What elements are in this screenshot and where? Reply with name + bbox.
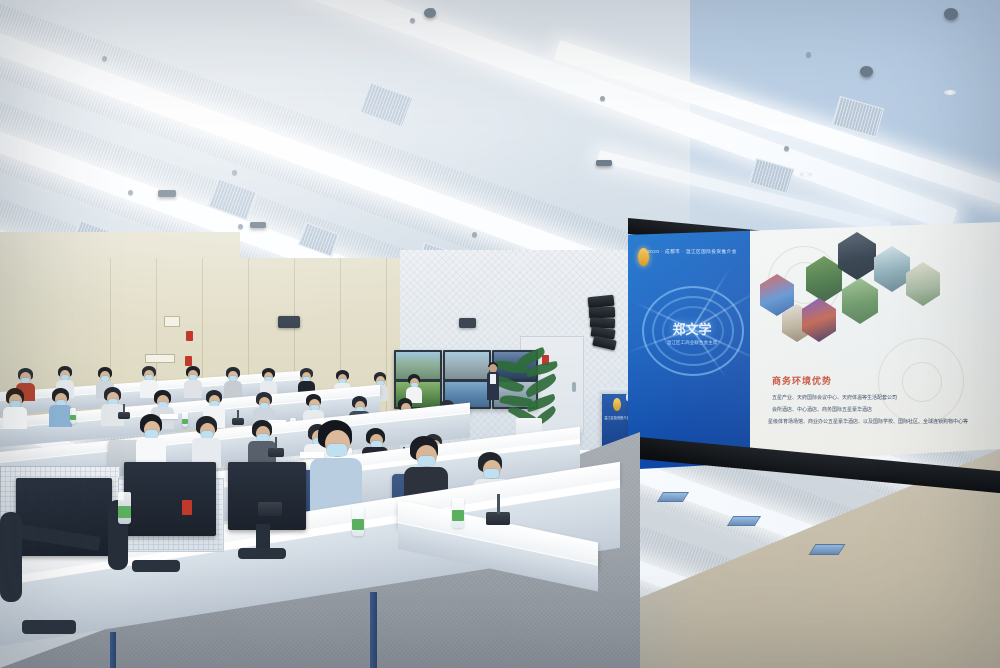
ceiling-speaker (158, 190, 176, 197)
wall-speaker (459, 318, 476, 328)
monitor-base (238, 548, 286, 559)
podium-emblem-icon (613, 398, 621, 411)
document-sheet (160, 414, 178, 419)
wall-speaker (278, 316, 300, 328)
conference-hall-photo: 温江区投资推介会 温江区投资推介会 郑文学 2020 · 成都市 · 温江区国际… (0, 0, 1000, 668)
monitor-base (132, 560, 180, 572)
sprinkler-head (472, 232, 477, 237)
ceiling-speaker (860, 66, 873, 77)
slide-watermark (902, 362, 942, 402)
sprinkler-head (806, 52, 811, 57)
ceiling-speaker (424, 8, 436, 18)
microphone-stem (497, 494, 500, 514)
hex-photo-covered-walkway (874, 246, 910, 292)
hex-photo-restaurant-terrace (906, 262, 940, 306)
desk-monitor[interactable] (228, 462, 306, 530)
desk-monitor[interactable] (124, 462, 216, 536)
hex-photo-hotel-room (838, 232, 876, 280)
podium-side-banner: 温江区投资推介会 (602, 415, 632, 420)
desk-leg (370, 592, 377, 668)
slide-speaker-subtitle: 温江区工商业联合会主席 (628, 340, 756, 346)
sprinkler-head (784, 146, 789, 151)
sprinkler-head (600, 96, 605, 101)
desk-microphone-base[interactable] (232, 418, 244, 425)
line-array-speaker (586, 296, 620, 352)
bottle-label (182, 419, 188, 424)
usher-shirt (490, 374, 496, 384)
microphone-stem (275, 437, 277, 449)
microphone-stem (123, 404, 125, 413)
slide-banner-text: 2020 · 成都市 · 温江区国际投资推介会 (628, 249, 756, 255)
ceiling-speaker (250, 222, 266, 228)
ceiling-speaker (596, 160, 612, 166)
wall-switch-plate[interactable] (164, 316, 180, 327)
sprinkler-head (102, 56, 107, 61)
bottle-label (70, 415, 76, 420)
bottle-label (118, 506, 131, 518)
slide-body-line-1: 五星产业、天府国际会议中心、天府体温等生活配套公司 (772, 394, 897, 401)
desk-microphone-base[interactable] (258, 502, 282, 516)
slide-right-white-panel: 商务环境优势 五星产业、天府国际会议中心、天府体温等生活配套公司 会所酒店、中心… (750, 222, 1000, 480)
monitor-base (22, 620, 76, 634)
desk-leg (110, 632, 116, 668)
bottle-label (452, 510, 464, 521)
desk-microphone-base[interactable] (118, 412, 130, 419)
sprinkler-head (410, 18, 415, 23)
ceiling-downlight (800, 172, 812, 177)
red-cup (182, 500, 192, 515)
slide-body-line-2: 会所酒店、中心酒店、商务国际五星豪华酒店 (772, 406, 872, 413)
fire-alarm-icon (185, 356, 192, 366)
fire-alarm-icon (186, 331, 193, 341)
wall-display-2 (443, 350, 491, 381)
ceiling-downlight (944, 90, 956, 95)
slide-speaker-name: 郑文学 (628, 319, 756, 338)
exit-sign (145, 354, 175, 363)
microphone-stem (237, 410, 239, 419)
sprinkler-head (128, 190, 133, 195)
ceiling-speaker (944, 8, 958, 20)
slide-body-line-3: 星级体育场场馆、商业办公五星豪华酒店、以及国际学校、国际社区、全球连锁购物中心等 (768, 418, 968, 425)
bottle-label (352, 519, 364, 530)
sprinkler-head (238, 224, 243, 229)
sprinkler-head (232, 170, 237, 175)
hex-photo-park-landscape (842, 278, 878, 324)
slide-heading: 商务环境优势 (772, 374, 832, 387)
desk-microphone-base[interactable] (268, 448, 284, 457)
door-handle[interactable] (572, 382, 576, 392)
